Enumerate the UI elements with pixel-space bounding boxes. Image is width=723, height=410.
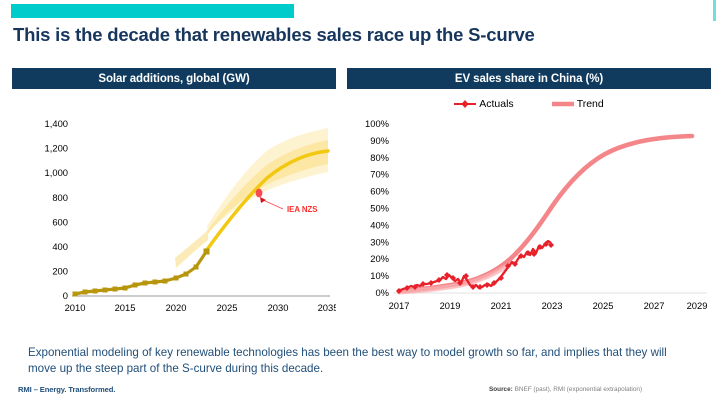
svg-text:0%: 0% xyxy=(375,287,389,298)
plot-ev-sales-share: 100% 90% 80% 70% 60% 50% 40% 30% 20% 10%… xyxy=(347,112,711,337)
svg-text:40%: 40% xyxy=(370,219,389,230)
svg-text:2017: 2017 xyxy=(389,300,410,311)
source-text: BNEF (past), RMI (exponential extrapolat… xyxy=(513,386,642,393)
svg-text:2029: 2029 xyxy=(687,300,708,311)
iea-nzs-leader-line xyxy=(263,200,283,209)
rmi-tagline: RMI – Energy. Transformed. xyxy=(18,385,115,394)
svg-text:2027: 2027 xyxy=(644,300,665,311)
iea-nzs-label: IEA NZS xyxy=(287,205,317,214)
svg-text:800: 800 xyxy=(52,192,68,203)
x-axis-labels-ev: 2017 2019 2021 2023 2025 2027 2029 xyxy=(389,300,708,311)
y-axis-labels-ev: 100% 90% 80% 70% 60% 50% 40% 30% 20% 10%… xyxy=(365,118,389,298)
svg-text:100%: 100% xyxy=(365,118,389,129)
svg-text:400: 400 xyxy=(52,241,68,252)
svg-text:1,000: 1,000 xyxy=(45,167,68,178)
accent-bar xyxy=(11,4,294,18)
page-title: This is the decade that renewables sales… xyxy=(13,24,703,46)
svg-text:70%: 70% xyxy=(370,169,389,180)
panel-solar: Solar additions, global (GW) xyxy=(12,68,336,89)
legend-label-actuals: Actuals xyxy=(479,98,513,110)
x-axis-labels-solar: 2010 2015 2020 2025 2030 2035 xyxy=(65,302,336,313)
svg-text:2010: 2010 xyxy=(65,302,86,313)
chart-legend-ev: Actuals Trend xyxy=(347,96,711,112)
source-note: Source: BNEF (past), RMI (exponential ex… xyxy=(489,386,642,393)
svg-text:30%: 30% xyxy=(370,236,389,247)
svg-text:0: 0 xyxy=(63,290,68,301)
slide-root: This is the decade that renewables sales… xyxy=(0,0,723,410)
y-axis-labels-solar: 1,400 1,200 1,000 800 600 400 200 0 xyxy=(45,118,68,301)
legend-label-trend: Trend xyxy=(577,98,604,110)
svg-text:2021: 2021 xyxy=(491,300,512,311)
plot-solar-svg: 1,400 1,200 1,000 800 600 400 200 0 2010… xyxy=(12,112,336,337)
svg-text:90%: 90% xyxy=(370,135,389,146)
svg-text:1,200: 1,200 xyxy=(45,143,68,154)
svg-text:2023: 2023 xyxy=(542,300,563,311)
panel-header-solar: Solar additions, global (GW) xyxy=(12,68,336,89)
panel-header-ev: EV sales share in China (%) xyxy=(347,68,711,89)
svg-text:20%: 20% xyxy=(370,253,389,264)
legend-item-actuals[interactable]: Actuals xyxy=(454,98,513,110)
plot-solar-additions: 1,400 1,200 1,000 800 600 400 200 0 2010… xyxy=(12,112,336,337)
svg-text:2020: 2020 xyxy=(166,302,187,313)
svg-text:600: 600 xyxy=(52,216,68,227)
trend-line-ev xyxy=(399,136,692,291)
caption-text: Exponential modeling of key renewable te… xyxy=(28,345,698,376)
svg-text:2025: 2025 xyxy=(217,302,238,313)
svg-text:2030: 2030 xyxy=(268,302,289,313)
svg-text:2019: 2019 xyxy=(440,300,461,311)
svg-text:80%: 80% xyxy=(370,152,389,163)
svg-text:50%: 50% xyxy=(370,203,389,214)
legend-swatch-actuals-icon xyxy=(454,99,476,109)
legend-swatch-trend-icon xyxy=(552,99,574,109)
svg-text:200: 200 xyxy=(52,266,68,277)
iea-nzs-arrow-icon xyxy=(260,197,266,203)
panel-ev: EV sales share in China (%) xyxy=(347,68,711,89)
accent-tick-right xyxy=(713,0,716,21)
svg-text:2025: 2025 xyxy=(593,300,614,311)
iea-nzs-point xyxy=(256,189,263,198)
plot-ev-svg: 100% 90% 80% 70% 60% 50% 40% 30% 20% 10%… xyxy=(347,112,711,337)
legend-item-trend[interactable]: Trend xyxy=(552,98,604,110)
svg-text:60%: 60% xyxy=(370,186,389,197)
uncertainty-band-joint-solar xyxy=(175,230,208,268)
source-label: Source: xyxy=(489,386,513,393)
svg-text:10%: 10% xyxy=(370,270,389,281)
svg-text:2035: 2035 xyxy=(318,302,336,313)
svg-text:2015: 2015 xyxy=(115,302,136,313)
svg-text:1,400: 1,400 xyxy=(45,118,68,129)
